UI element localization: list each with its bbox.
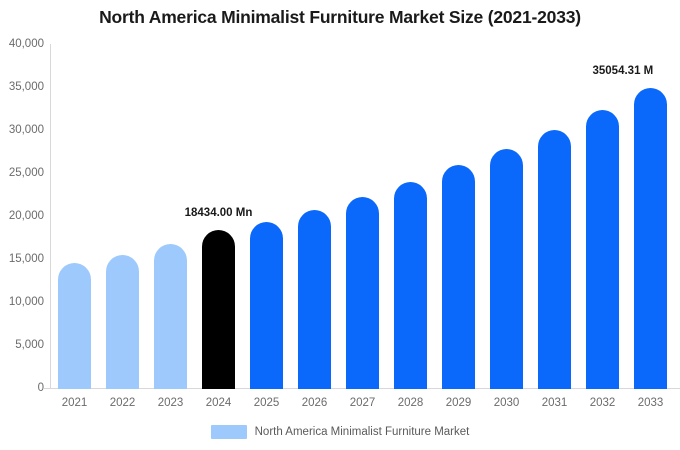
bar-2022[interactable] xyxy=(106,255,139,389)
bar-2033[interactable] xyxy=(634,88,667,389)
bar-2032[interactable] xyxy=(586,110,619,389)
x-tick-label-2027: 2027 xyxy=(350,397,376,409)
x-tick-label-2021: 2021 xyxy=(62,397,88,409)
x-tick-label-2030: 2030 xyxy=(494,397,520,409)
legend-label: North America Minimalist Furniture Marke… xyxy=(255,426,470,438)
bar-2030[interactable] xyxy=(490,149,523,389)
bar-2025[interactable] xyxy=(250,222,283,389)
bar-2024[interactable] xyxy=(202,230,235,389)
bar-2031[interactable] xyxy=(538,130,571,389)
x-tick-label-2031: 2031 xyxy=(542,397,568,409)
data-label-2033: 35054.31 M xyxy=(593,65,654,77)
x-tick-label-2024: 2024 xyxy=(206,397,232,409)
bar-2029[interactable] xyxy=(442,165,475,389)
x-tick-label-2023: 2023 xyxy=(158,397,184,409)
x-tick-label-2026: 2026 xyxy=(302,397,328,409)
bar-2027[interactable] xyxy=(346,197,379,389)
bar-2023[interactable] xyxy=(154,244,187,389)
chart-legend: North America Minimalist Furniture Marke… xyxy=(0,425,680,439)
data-label-2024: 18434.00 Mn xyxy=(185,207,253,219)
x-tick-label-2029: 2029 xyxy=(446,397,472,409)
bar-chart: North America Minimalist Furniture Marke… xyxy=(0,0,680,450)
bar-2021[interactable] xyxy=(58,263,91,389)
legend-item[interactable]: North America Minimalist Furniture Marke… xyxy=(211,425,470,439)
bars-layer xyxy=(0,0,680,389)
x-tick-label-2025: 2025 xyxy=(254,397,280,409)
x-tick-label-2028: 2028 xyxy=(398,397,424,409)
x-tick-label-2022: 2022 xyxy=(110,397,136,409)
bar-2028[interactable] xyxy=(394,182,427,389)
x-tick-label-2033: 2033 xyxy=(638,397,664,409)
x-tick-label-2032: 2032 xyxy=(590,397,616,409)
bar-2026[interactable] xyxy=(298,210,331,389)
legend-swatch xyxy=(211,425,247,439)
